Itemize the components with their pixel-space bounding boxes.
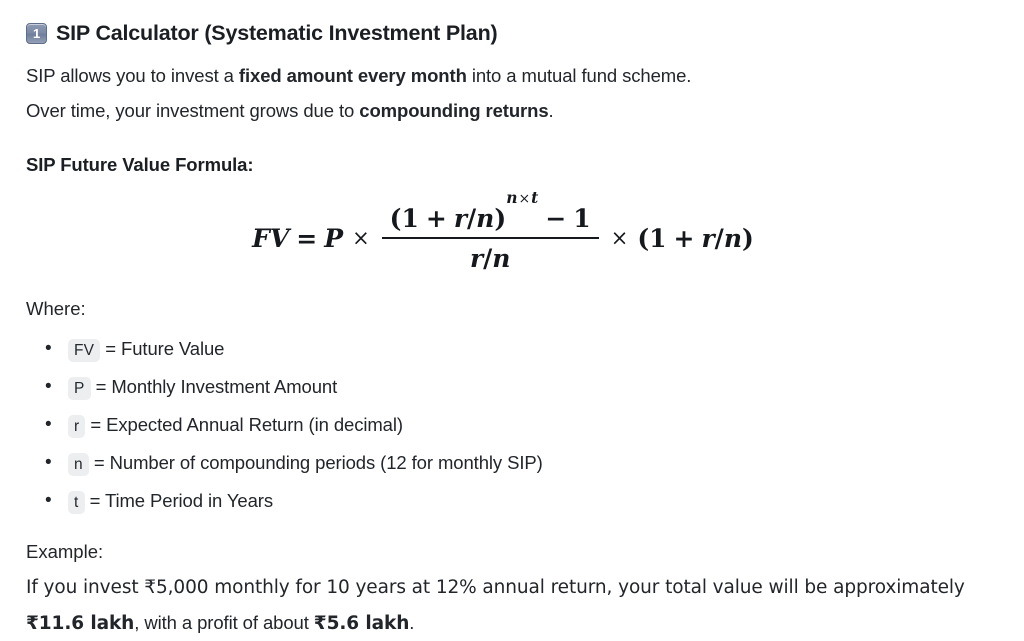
list-item: FV = Future Value [26, 331, 1000, 369]
formula-denominator: r/n [462, 239, 519, 273]
formula-times-2: × [602, 226, 638, 250]
list-item: n = Number of compounding periods (12 fo… [26, 445, 1000, 483]
example-part-1: If you invest ₹5,000 monthly for 10 year… [26, 577, 965, 598]
list-item: r = Expected Annual Return (in decimal) [26, 407, 1000, 445]
definition-text-fv: = Future Value [105, 338, 224, 359]
formula-block: FV = P × (1+r/n)n×t−1 r/n × (1+r/n) [26, 204, 1000, 273]
intro-1-before: SIP allows you to invest a [26, 65, 239, 86]
formula-numerator: (1+r/n)n×t−1 [382, 204, 599, 237]
formula-fraction: (1+r/n)n×t−1 r/n [382, 204, 599, 273]
example-total-value: ₹11.6 lakh [26, 613, 134, 634]
symbol-chip-fv: FV [68, 339, 100, 362]
intro-paragraph-1: SIP allows you to invest a fixed amount … [26, 58, 1000, 93]
document-content: 1 SIP Calculator (Systematic Investment … [0, 0, 1024, 641]
intro-2-before: Over time, your investment grows due to [26, 100, 359, 121]
definition-text-t: = Time Period in Years [90, 490, 273, 511]
symbol-chip-n: n [68, 453, 89, 476]
formula-lhs: FV [252, 224, 289, 253]
example-label: Example: [26, 535, 1000, 569]
intro-2-after: . [549, 100, 554, 121]
sip-future-value-formula: FV = P × (1+r/n)n×t−1 r/n × (1+r/n) [252, 204, 754, 273]
page-title: 1 SIP Calculator (Systematic Investment … [26, 18, 1000, 48]
definition-list: FV = Future Value P = Monthly Investment… [26, 331, 1000, 521]
formula-heading: SIP Future Value Formula: [26, 150, 1000, 180]
symbol-chip-r: r [68, 415, 85, 438]
example-part-2: , with a profit of about [134, 612, 314, 633]
intro-2-bold: compounding returns [359, 100, 548, 121]
formula-times-1: × [343, 226, 379, 250]
definition-text-n: = Number of compounding periods (12 for … [94, 452, 543, 473]
where-label: Where: [26, 293, 1000, 325]
intro-1-after: into a mutual fund scheme. [467, 65, 692, 86]
formula-exponent: n×t [506, 198, 538, 199]
symbol-chip-t: t [68, 491, 85, 514]
formula-numerator-base: (1+r/n) [390, 204, 507, 233]
example-part-3: . [409, 612, 414, 633]
example-paragraph: If you invest ₹5,000 monthly for 10 year… [26, 569, 1000, 641]
definition-text-p: = Monthly Investment Amount [96, 376, 338, 397]
formula-trailing-factor: (1+r/n) [637, 224, 754, 253]
formula-principal: P [324, 224, 343, 253]
intro-paragraph-2: Over time, your investment grows due to … [26, 93, 1000, 128]
intro-1-bold: fixed amount every month [239, 65, 467, 86]
example-profit: ₹5.6 lakh [314, 613, 409, 634]
list-item: t = Time Period in Years [26, 483, 1000, 521]
formula-equals: = [289, 224, 324, 253]
keycap-one-icon: 1 [26, 23, 47, 44]
definition-text-r: = Expected Annual Return (in decimal) [90, 414, 403, 435]
page-title-text: SIP Calculator (Systematic Investment Pl… [56, 18, 497, 48]
list-item: P = Monthly Investment Amount [26, 369, 1000, 407]
symbol-chip-p: P [68, 377, 91, 400]
